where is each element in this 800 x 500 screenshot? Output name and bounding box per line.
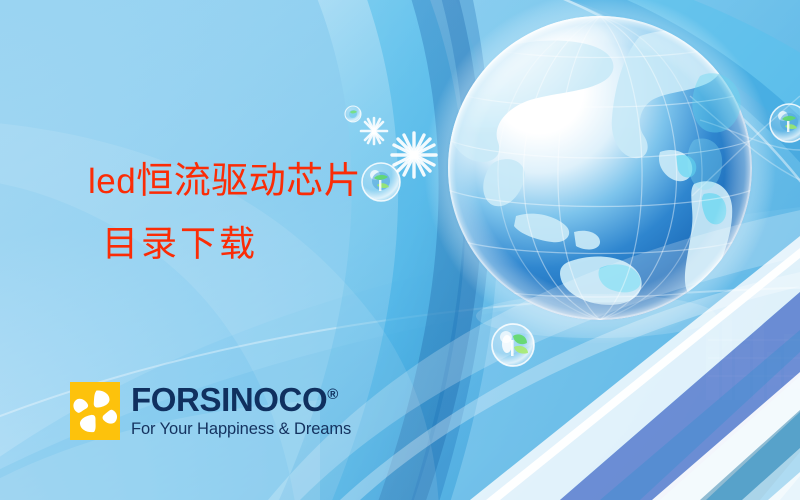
banner-image: led恒流驱动芯片 目录下载 FORSINOCO® For Your Happi… — [0, 0, 800, 500]
headline-line-1: led恒流驱动芯片 — [88, 163, 361, 200]
headline-line-2: 目录下载 — [102, 226, 361, 262]
company-logo: FORSINOCO® For Your Happiness & Dreams — [70, 382, 351, 440]
registered-trademark-symbol: ® — [327, 386, 338, 403]
headline-text-block: led恒流驱动芯片 目录下载 — [88, 163, 361, 262]
forsinoco-pinwheel-mark-icon — [70, 382, 120, 440]
logo-wordmark: FORSINOCO® — [131, 383, 351, 416]
headline-latin-word: led — [88, 162, 136, 201]
logo-tagline: For Your Happiness & Dreams — [131, 421, 351, 438]
headline-cjk-part: 恒流驱动芯片 — [136, 161, 361, 202]
logo-wordmark-text: FORSINOCO — [131, 381, 327, 418]
